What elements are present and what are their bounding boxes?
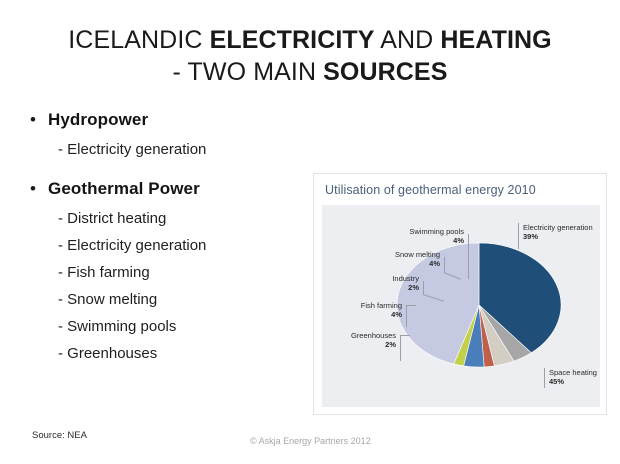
bullet-heading-row-geothermal: • Geothermal Power <box>30 179 310 199</box>
pie-label-greenhouses: Greenhouses 2% <box>322 331 396 350</box>
page-title: ICELANDIC ELECTRICITY AND HEATING - TWO … <box>0 24 620 88</box>
leader-line-greenhouses <box>400 335 401 361</box>
sub-item-district-heating: - District heating <box>58 205 310 232</box>
pie-label-swimming-pools-text: Swimming pools <box>409 227 464 236</box>
pie-label-electricity-generation: Electricity generation 39% <box>523 223 613 242</box>
pie-label-greenhouses-text: Greenhouses <box>351 331 396 340</box>
pie-label-snow-melting: Snow melting 4% <box>358 250 440 269</box>
copyright-note: © Askja Energy Partners 2012 <box>250 436 371 446</box>
leader-line-greenhouses-arm <box>400 335 410 336</box>
chart-plot-area: Swimming pools 4% Snow melting 4% Indust… <box>322 205 600 407</box>
pie-label-greenhouses-value: 2% <box>322 340 396 349</box>
pie-label-space-heating-value: 45% <box>549 377 619 386</box>
bullet-group-hydropower: • Hydropower - Electricity generation <box>30 110 310 163</box>
bullet-list: • Hydropower - Electricity generation • … <box>30 110 310 369</box>
leader-line-fish-farming <box>406 305 407 327</box>
title-seg-6: SOURCES <box>323 58 447 86</box>
source-note: Source: NEA <box>32 430 87 441</box>
title-line-2: - TWO MAIN SOURCES <box>0 56 620 88</box>
leader-line-swimming-pools <box>468 234 469 279</box>
title-seg-2: ELECTRICITY <box>210 26 375 54</box>
bullet-heading-geothermal: Geothermal Power <box>48 179 200 199</box>
pie-label-industry: Industry 2% <box>348 274 419 293</box>
pie-label-industry-text: Industry <box>392 274 419 283</box>
title-seg-4: HEATING <box>440 26 551 54</box>
title-seg-1: ICELANDIC <box>68 26 209 54</box>
sub-item-electricity-generation: - Electricity generation <box>58 232 310 259</box>
chart-panel: Utilisation of geothermal energy 2010 <box>313 173 607 415</box>
sub-item-swimming-pools: - Swimming pools <box>58 313 310 340</box>
leader-line-industry <box>423 281 424 295</box>
bullet-dot-icon: • <box>30 180 48 197</box>
title-seg-3: AND <box>375 26 441 54</box>
leader-line-electricity <box>518 223 519 249</box>
group-spacer <box>30 165 310 179</box>
slide-canvas: ICELANDIC ELECTRICITY AND HEATING - TWO … <box>0 0 620 464</box>
pie-label-space-heating-text: Space heating <box>549 368 597 377</box>
sub-item-greenhouses: - Greenhouses <box>58 340 310 367</box>
pie-label-snow-melting-value: 4% <box>358 259 440 268</box>
sub-item-fish-farming: - Fish farming <box>58 259 310 286</box>
pie-label-fish-farming-value: 4% <box>324 310 402 319</box>
pie-label-fish-farming-text: Fish farming <box>361 301 402 310</box>
bullet-heading-hydropower: Hydropower <box>48 110 148 130</box>
bullet-heading-row-hydropower: • Hydropower <box>30 110 310 130</box>
pie-label-space-heating: Space heating 45% <box>549 368 619 387</box>
leader-line-fish-farming-arm <box>406 305 416 306</box>
leader-line-space-heating <box>544 368 545 388</box>
pie-label-electricity-generation-text: Electricity generation <box>523 223 593 232</box>
chart-title: Utilisation of geothermal energy 2010 <box>325 183 536 197</box>
pie-label-electricity-generation-value: 39% <box>523 232 613 241</box>
pie-label-swimming-pools: Swimming pools 4% <box>382 227 464 246</box>
sub-item-hydro-electricity: - Electricity generation <box>58 136 310 163</box>
leader-line-snow-melting <box>444 257 445 273</box>
bullet-dot-icon: • <box>30 111 48 128</box>
pie-label-fish-farming: Fish farming 4% <box>324 301 402 320</box>
title-seg-5: - TWO MAIN <box>173 58 324 86</box>
title-line-1: ICELANDIC ELECTRICITY AND HEATING <box>0 24 620 56</box>
sub-item-snow-melting: - Snow melting <box>58 286 310 313</box>
pie-label-snow-melting-text: Snow melting <box>395 250 440 259</box>
bullet-group-geothermal: • Geothermal Power - District heating - … <box>30 179 310 367</box>
pie-label-swimming-pools-value: 4% <box>382 236 464 245</box>
pie-label-industry-value: 2% <box>348 283 419 292</box>
